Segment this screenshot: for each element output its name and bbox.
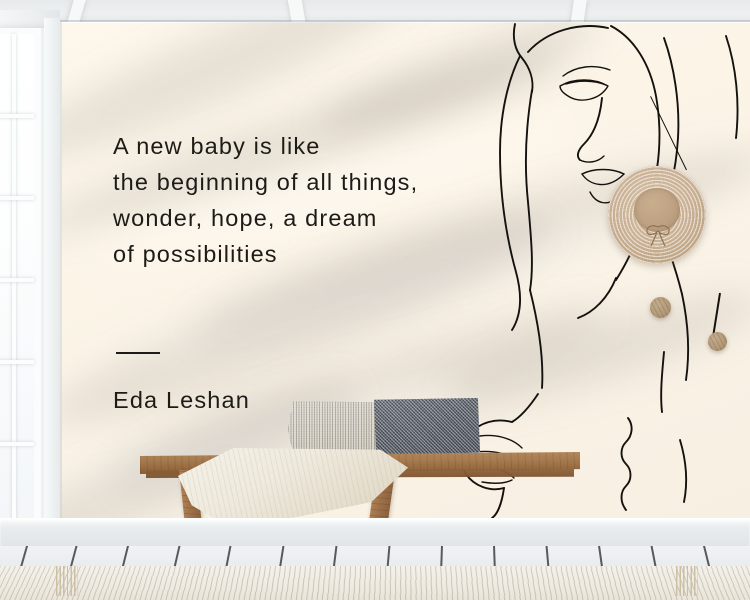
wooden-knob-small (708, 332, 727, 351)
baseboard (0, 518, 750, 548)
window-mullion-horizontal (0, 442, 34, 446)
rug-fringe-right (676, 566, 698, 596)
quote-line-4: of possibilities (113, 236, 513, 272)
attribution-name: Eda Leshan (113, 387, 250, 414)
quote-line-3: wonder, hope, a dream (113, 200, 513, 236)
window-mullion-horizontal (0, 114, 34, 118)
window-jamb (44, 18, 60, 534)
attribution-rule (116, 352, 160, 354)
window-mullion-horizontal (0, 360, 34, 364)
window-mullion-horizontal (0, 278, 34, 282)
quote-line-2: the beginning of all things, (113, 164, 513, 200)
window-glass (0, 34, 34, 522)
mural-left-edge (60, 22, 62, 518)
hat-ribbon-bow (638, 224, 678, 246)
hat-hanging-cord (650, 96, 687, 170)
rug-fringe-left (56, 566, 78, 596)
quote-block: A new baby is like the beginning of all … (113, 128, 513, 272)
window (0, 28, 46, 528)
quote-line-1: A new baby is like (113, 128, 513, 164)
striped-rug (0, 566, 750, 600)
wooden-knob-medium (650, 297, 671, 318)
straw-hat (608, 166, 706, 264)
window-mullion-horizontal (0, 196, 34, 200)
room-scene: A new baby is like the beginning of all … (0, 0, 750, 600)
